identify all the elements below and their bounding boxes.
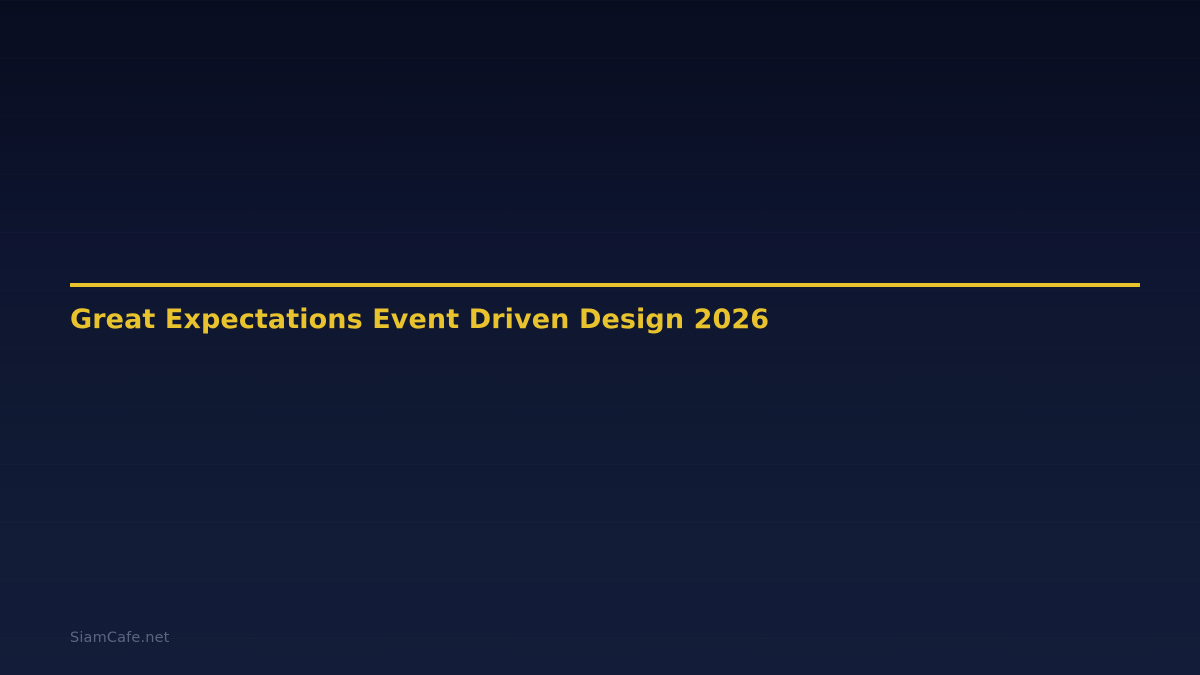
footer-watermark-text: SiamCafe.net xyxy=(70,629,169,648)
presentation-slide: Great Expectations Event Driven Design 2… xyxy=(0,0,1200,675)
slide-footer: SiamCafe.net xyxy=(70,629,169,648)
slide-title: Great Expectations Event Driven Design 2… xyxy=(70,287,1140,336)
title-block: Great Expectations Event Driven Design 2… xyxy=(70,283,1140,336)
